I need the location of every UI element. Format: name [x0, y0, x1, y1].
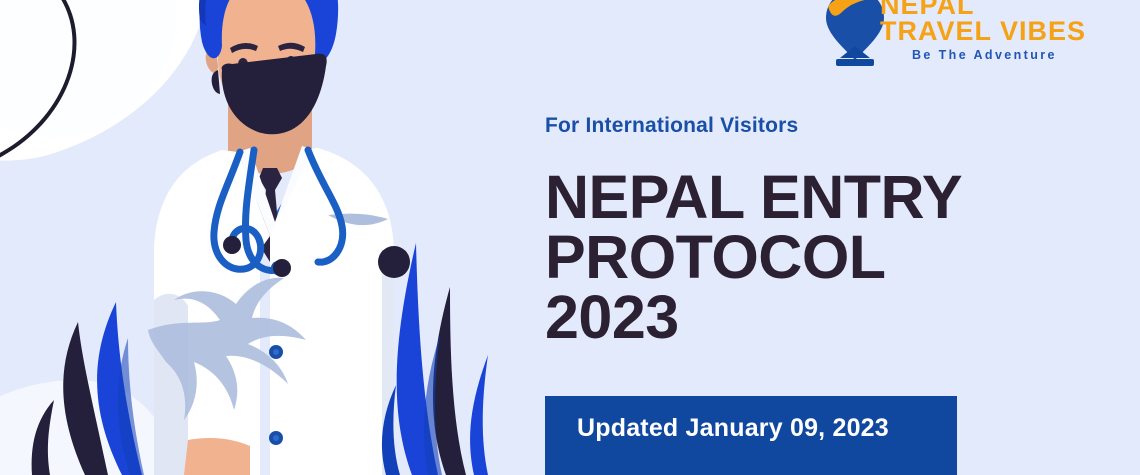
doctor-stethoscope-earpiece: [273, 259, 291, 277]
brand-logo[interactable]: NEPAL TRAVEL VIBES Be The Adventure: [802, 0, 1122, 68]
logo-tagline: Be The Adventure: [912, 49, 1057, 62]
kicker-text: For International Visitors: [545, 114, 798, 138]
decorative-leaves-right: [370, 225, 550, 475]
updated-date-badge[interactable]: Updated January 09, 2023: [545, 396, 957, 475]
map-pin-icon: [822, 0, 888, 68]
doctor-hand: [184, 438, 250, 475]
headline-line-3: 2023: [545, 288, 1065, 348]
page-title: NEPAL ENTRY PROTOCOL 2023: [545, 168, 1065, 347]
nepal-entry-protocol-banner: NEPAL TRAVEL VIBES Be The Adventure For …: [0, 0, 1140, 475]
updated-date-label: Updated January 09, 2023: [577, 414, 889, 443]
doctor-stethoscope-earpiece: [223, 236, 241, 254]
logo-word-travel-vibes: TRAVEL VIBES: [880, 18, 1086, 45]
headline-line-2: PROTOCOL: [545, 228, 1065, 288]
headline-line-1: NEPAL ENTRY: [545, 168, 1065, 228]
